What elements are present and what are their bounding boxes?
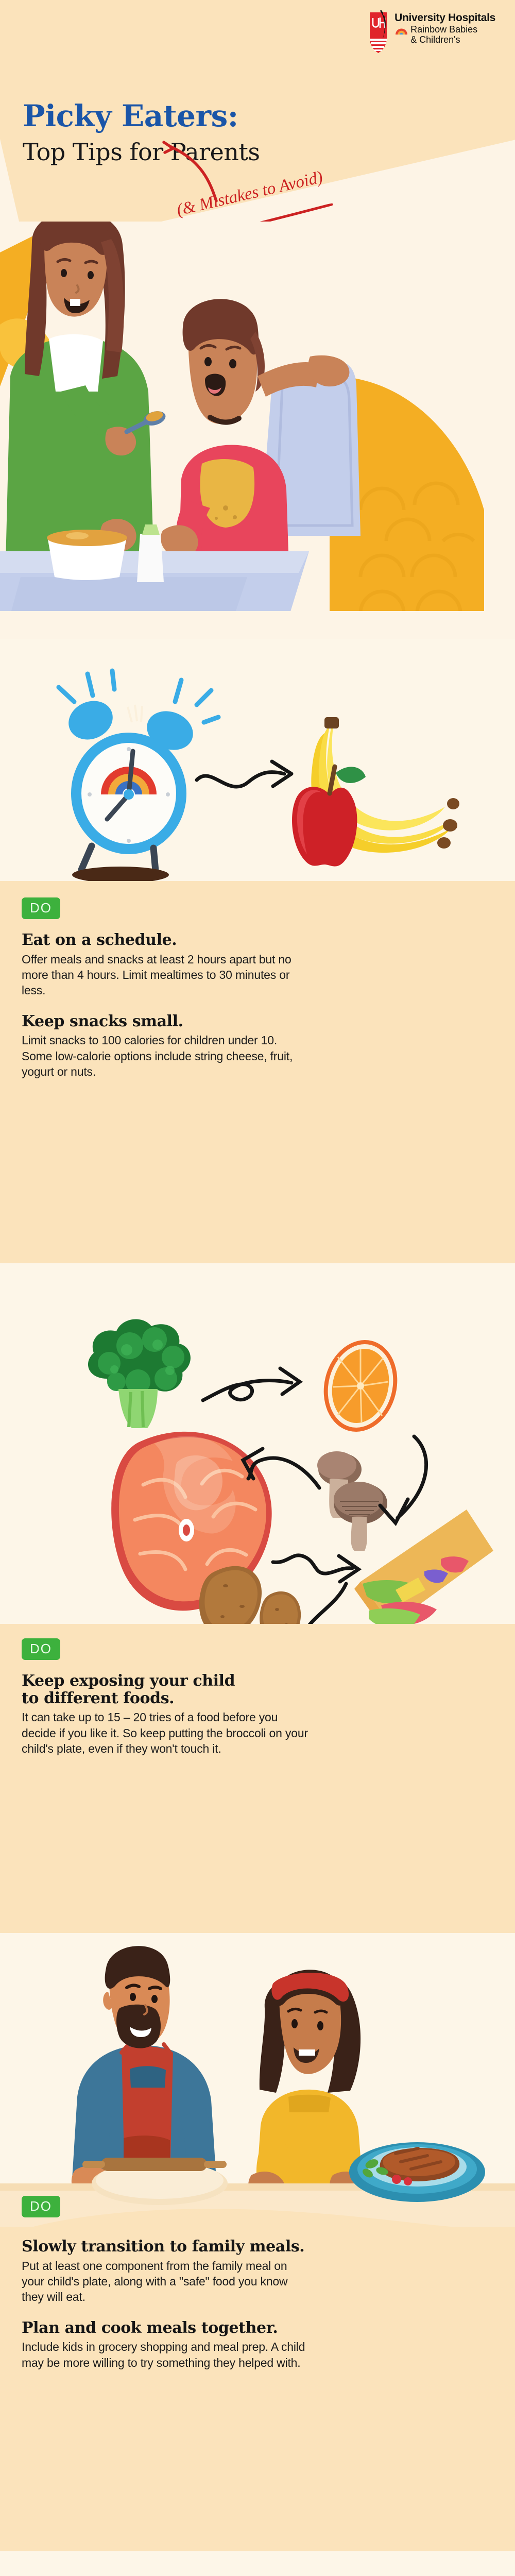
tip-body-keep-snacks-small: Limit snacks to 100 calories for childre… — [22, 1032, 310, 1079]
sandwich-icon — [354, 1510, 493, 1628]
uh-shield-icon — [368, 9, 391, 55]
page-title: Picky Eaters: — [23, 101, 238, 131]
logo-line-and-childrens: & Children's — [410, 35, 495, 45]
arrow-orange-to-mushrooms — [380, 1436, 426, 1523]
tip-heading-keep-snacks-small: Keep snacks small. — [22, 1013, 310, 1030]
illustration-variety-of-foods — [0, 1273, 515, 1628]
tip-body-slowly-transition: Put at least one component from the fami… — [22, 2258, 310, 2305]
mushrooms-icon — [317, 1451, 387, 1551]
arrow-broccoli-to-orange — [203, 1368, 300, 1400]
tip-heading-slowly-transition: Slowly transition to family meals. — [22, 2238, 310, 2256]
section-1-text-block: DO Eat on a schedule. Offer meals and sn… — [22, 897, 310, 1079]
section-3-text-block: DO Slowly transition to family meals. Pu… — [22, 2196, 310, 2370]
daughter-figure — [248, 1970, 367, 2205]
rainbow-icon — [394, 26, 408, 35]
badge-do-2: DO — [22, 1638, 60, 1660]
tip-body-keep-exposing: It can take up to 15 – 20 tries of a foo… — [22, 1709, 310, 1756]
illustration-alarm-clock-and-fruit — [0, 644, 515, 886]
badge-do-3: DO — [22, 2196, 60, 2217]
tip-heading-eat-on-a-schedule: Eat on a schedule. — [22, 931, 310, 949]
logo-line-rainbow-babies: Rainbow Babies — [410, 24, 477, 35]
tip-heading-plan-and-cook: Plan and cook meals together. — [22, 2319, 310, 2337]
tip-body-plan-and-cook: Include kids in grocery shopping and mea… — [22, 2339, 310, 2370]
logo-line-university-hospitals: University Hospitals — [394, 12, 495, 24]
alarm-clock-icon — [59, 671, 218, 883]
illustration-father-and-daughter-baking — [0, 1942, 515, 2231]
squiggle-arrow-icon — [197, 761, 291, 787]
badge-do-1: DO — [22, 897, 60, 919]
broccoli-icon — [88, 1319, 191, 1428]
illustration-mother-child-sticker-chart: 123 456 — [0, 2566, 515, 2576]
arrow-salmon-to-sandwich — [273, 1555, 358, 1582]
plate-with-steak-icon — [349, 2142, 485, 2202]
tip-body-eat-on-a-schedule: Offer meals and snacks at least 2 hours … — [22, 952, 310, 998]
orange-slice-icon — [314, 1332, 406, 1440]
tip-heading-keep-exposing: Keep exposing your child to different fo… — [22, 1672, 238, 1707]
hero-illustration-mother-feeding-child — [0, 222, 515, 639]
uh-logo: University Hospitals Rainbow Babies & Ch… — [368, 9, 495, 55]
section-2-text-block: DO Keep exposing your child to different… — [22, 1638, 310, 1756]
logo-wordmark: University Hospitals Rainbow Babies & Ch… — [394, 9, 495, 45]
infographic-page: University Hospitals Rainbow Babies & Ch… — [0, 0, 515, 2576]
